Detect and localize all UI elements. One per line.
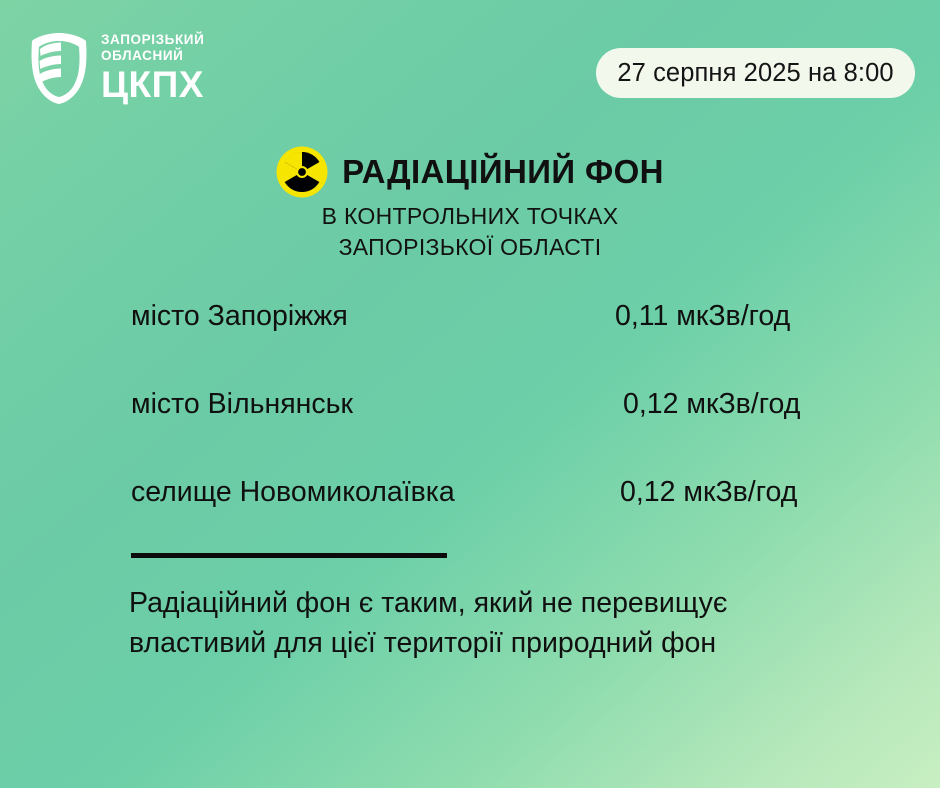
date-badge-text: 27 серпня 2025 на 8:00 xyxy=(617,59,893,88)
title-subtitle-line-1: В КОНТРОЛЬНИХ ТОЧКАХ xyxy=(0,201,940,232)
logo-line-1: ЗАПОРІЗЬКИЙ xyxy=(101,32,204,48)
measurement-value: 0,12 мкЗв/год xyxy=(623,388,800,421)
measurement-value: 0,12 мкЗв/год xyxy=(620,476,797,509)
measurement-location: місто Запоріжжя xyxy=(131,300,348,333)
date-badge: 27 серпня 2025 на 8:00 xyxy=(596,48,915,98)
footnote-line-2: властивий для цієї території природний ф… xyxy=(129,623,889,663)
measurement-value: 0,11 мкЗв/год xyxy=(615,300,790,333)
measurement-row: місто Запоріжжя 0,11 мкЗв/год xyxy=(131,300,871,388)
footnote: Радіаційний фон є таким, який не перевищ… xyxy=(129,583,889,664)
logo-abbreviation: ЦКПХ xyxy=(101,66,204,104)
title-subtitle-line-2: ЗАПОРІЗЬКОЇ ОБЛАСТІ xyxy=(0,232,940,263)
title-main-row: РАДІАЦІЙНИЙ ФОН xyxy=(0,146,940,198)
measurement-row: місто Вільнянськ 0,12 мкЗв/год xyxy=(131,388,871,476)
logo-line-2: ОБЛАСНИЙ xyxy=(101,48,204,64)
measurement-location: селище Новомиколаївка xyxy=(131,476,455,509)
header: ЗАПОРІЗЬКИЙ ОБЛАСНИЙ ЦКПХ 27 серпня 2025… xyxy=(0,0,940,130)
measurements-list: місто Запоріжжя 0,11 мкЗв/год місто Віль… xyxy=(131,300,871,564)
radiation-trefoil-icon xyxy=(276,146,328,198)
page-title: РАДІАЦІЙНИЙ ФОН xyxy=(342,153,664,191)
measurement-location: місто Вільнянськ xyxy=(131,388,353,421)
organization-logo: ЗАПОРІЗЬКИЙ ОБЛАСНИЙ ЦКПХ xyxy=(28,30,204,106)
section-divider xyxy=(131,553,447,558)
title-block: РАДІАЦІЙНИЙ ФОН В КОНТРОЛЬНИХ ТОЧКАХ ЗАП… xyxy=(0,146,940,262)
logo-wordmark: ЗАПОРІЗЬКИЙ ОБЛАСНИЙ ЦКПХ xyxy=(101,32,204,104)
poster-canvas: ЗАПОРІЗЬКИЙ ОБЛАСНИЙ ЦКПХ 27 серпня 2025… xyxy=(0,0,940,788)
shield-logo-icon xyxy=(28,30,90,106)
footnote-line-1: Радіаційний фон є таким, який не перевищ… xyxy=(129,583,889,623)
measurement-row: селище Новомиколаївка 0,12 мкЗв/год xyxy=(131,476,871,564)
title-subtitle: В КОНТРОЛЬНИХ ТОЧКАХ ЗАПОРІЗЬКОЇ ОБЛАСТІ xyxy=(0,201,940,262)
